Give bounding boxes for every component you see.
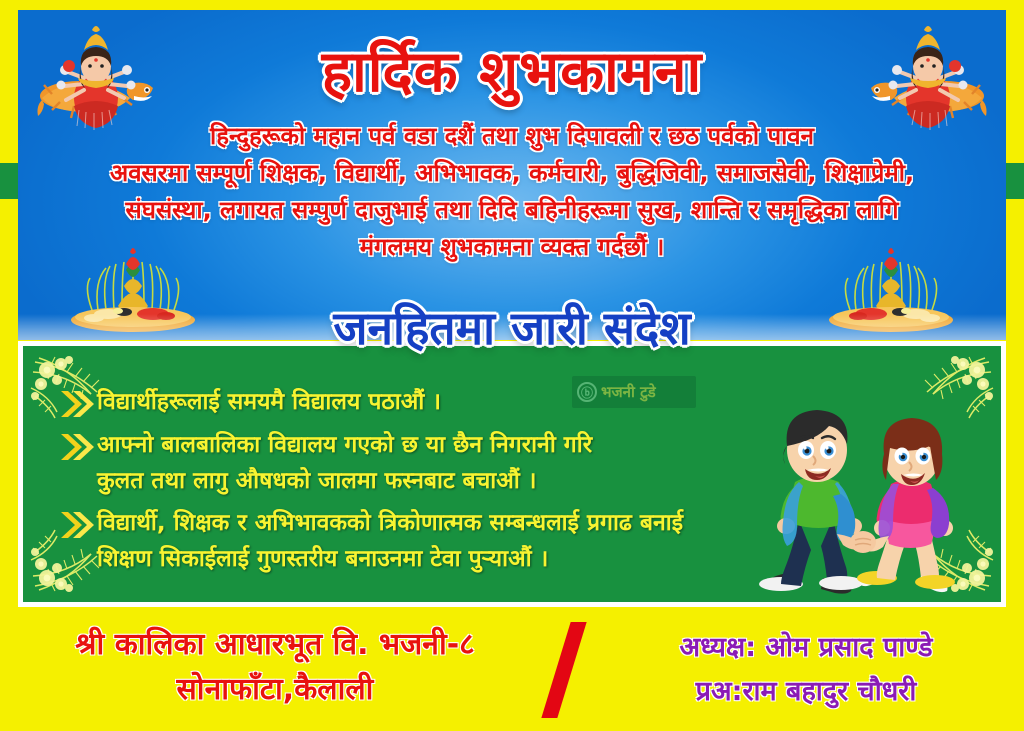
bullet-text: विद्यार्थीहरूलाई समयमै विद्यालय पठाऔं ।	[97, 384, 441, 420]
school-name-line: सोनाफाँटा,कैलाली	[10, 667, 540, 712]
official-line: प्रअ:राम बहादुर चौधरी	[596, 670, 1016, 714]
page-title: हार्दिक शुभकामना	[18, 30, 1006, 108]
list-item: आफ्नो बालबालिका विद्यालय गएको छ या छैन न…	[59, 427, 759, 499]
watermark-mark-icon: ⓑ	[577, 382, 597, 402]
right-side-tab	[1004, 163, 1024, 199]
bullet-line: विद्यार्थीहरूलाई समयमै विद्यालय पठाऔं ।	[97, 384, 441, 420]
double-chevron-bullet-icon	[59, 387, 97, 421]
green-message-panel: विद्यार्थीहरूलाई समयमै विद्यालय पठाऔं । …	[18, 341, 1006, 607]
message-line: हिन्दुहरूको महान पर्व वडा दशैं तथा शुभ द…	[54, 118, 970, 155]
bullet-text: विद्यार्थी, शिक्षक र अभिभावकको त्रिकोणात…	[97, 505, 683, 577]
bullet-line: विद्यार्थी, शिक्षक र अभिभावकको त्रिकोणात…	[97, 505, 683, 541]
festival-greeting-poster: हार्दिक शुभकामना हिन्दुहरूको महान पर्व व…	[0, 0, 1024, 731]
list-item: विद्यार्थी, शिक्षक र अभिभावकको त्रिकोणात…	[59, 505, 759, 577]
school-name: श्री कालिका आधारभूत वि. भजनी-८ सोनाफाँटा…	[10, 622, 540, 712]
school-name-line: श्री कालिका आधारभूत वि. भजनी-८	[10, 622, 540, 667]
red-slash-divider	[541, 622, 586, 718]
double-chevron-bullet-icon	[59, 508, 97, 542]
banner-heading: जनहितमा जारी संदेश	[0, 296, 1024, 358]
bullet-text: आफ्नो बालबालिका विद्यालय गएको छ या छैन न…	[97, 427, 592, 499]
message-line: संघसंस्था, लगायत सम्पुर्ण दाजुभाई तथा दि…	[54, 192, 970, 229]
message-bullet-list: विद्यार्थीहरूलाई समयमै विद्यालय पठाऔं । …	[59, 384, 759, 583]
watermark-text: भजनी टुडे	[601, 382, 656, 402]
blue-greeting-panel: हार्दिक शुभकामना हिन्दुहरूको महान पर्व व…	[18, 10, 1006, 340]
officials-list: अध्यक्ष: ओम प्रसाद पाण्डे प्रअ:राम बहादु…	[596, 626, 1016, 714]
watermark-logo: ⓑ भजनी टुडे	[572, 376, 696, 408]
left-side-tab	[0, 163, 20, 199]
message-line: अवसरमा सम्पूर्ण शिक्षक, विद्यार्थी, अभिभ…	[54, 155, 970, 192]
bullet-line: कुलत तथा लागु औषधको जालमा फस्नबाट बचाऔं …	[97, 463, 592, 499]
bullet-line: शिक्षण सिकाईलाई गुणस्तरीय बनाउनमा टेवा प…	[97, 541, 683, 577]
bullet-line: आफ्नो बालबालिका विद्यालय गएको छ या छैन न…	[97, 427, 592, 463]
footer-bar: श्री कालिका आधारभूत वि. भजनी-८ सोनाफाँटा…	[0, 610, 1024, 731]
schoolchildren-illustration	[737, 370, 987, 602]
official-line: अध्यक्ष: ओम प्रसाद पाण्डे	[596, 626, 1016, 670]
double-chevron-bullet-icon	[59, 430, 97, 464]
